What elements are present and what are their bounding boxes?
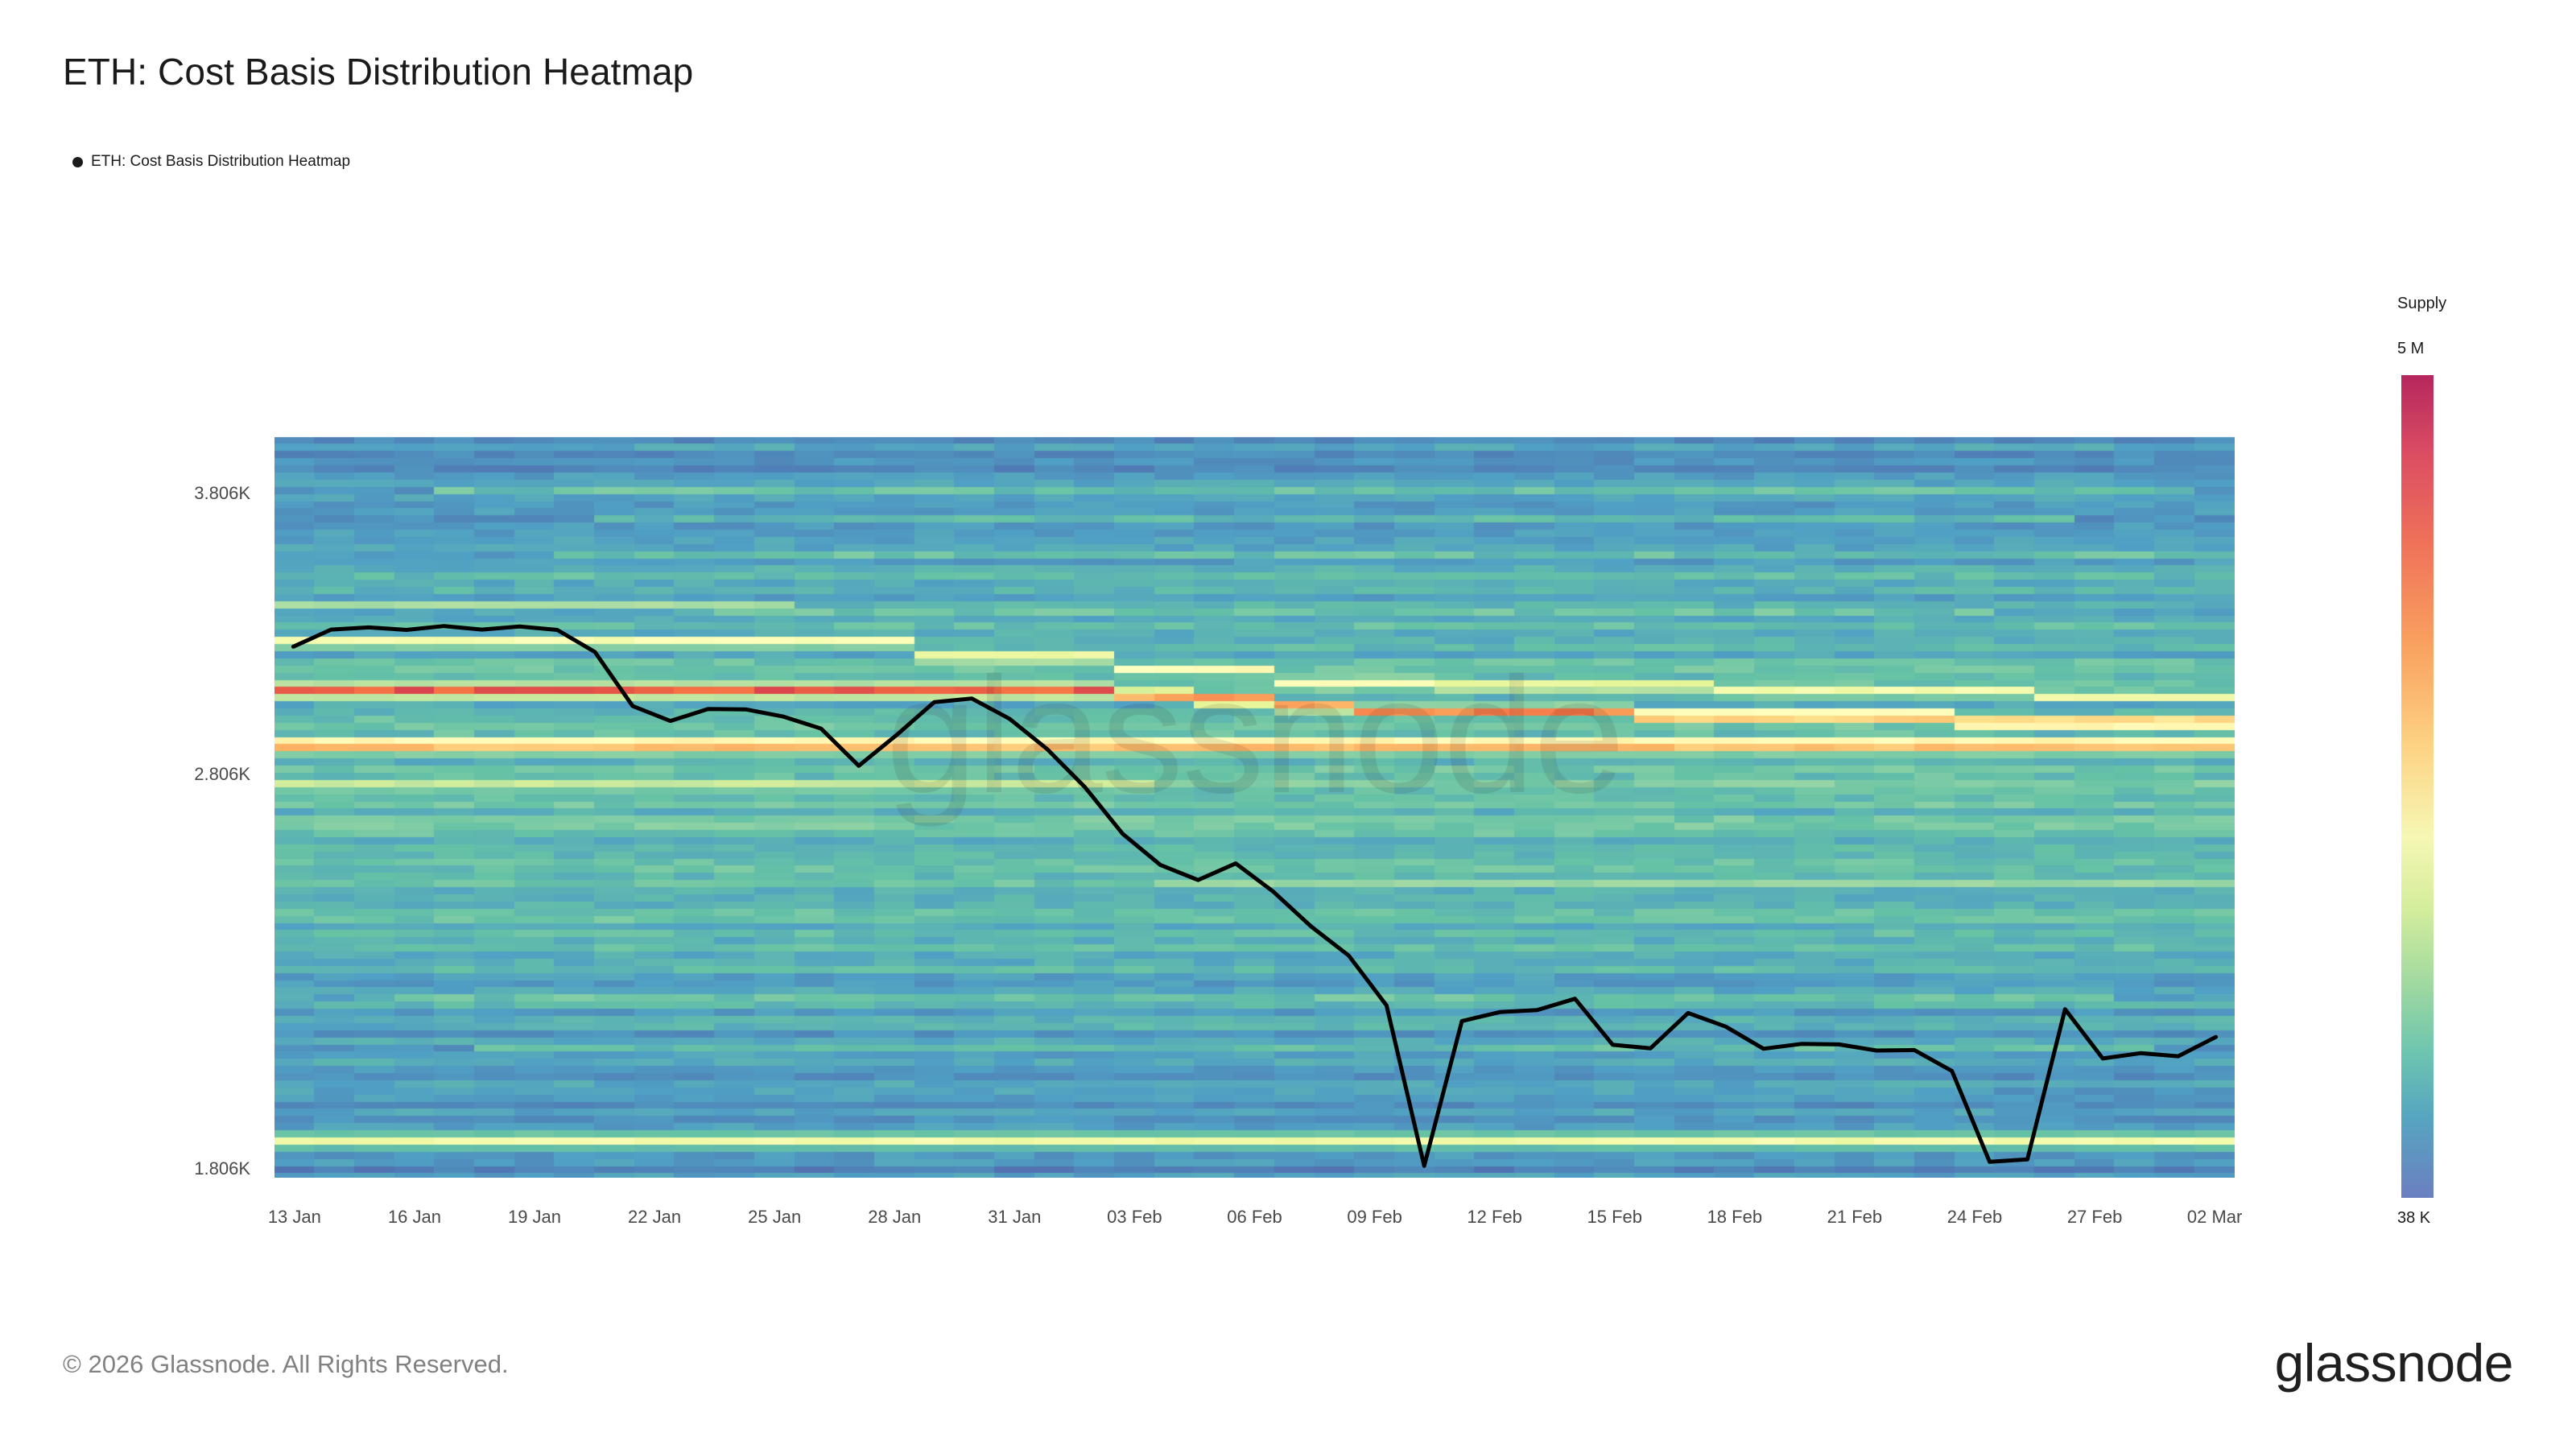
x-tick-label: 09 Feb	[1347, 1207, 1402, 1228]
heatmap-canvas[interactable]	[275, 293, 2235, 1178]
x-axis: 13 Jan16 Jan19 Jan22 Jan25 Jan28 Jan31 J…	[0, 1207, 2576, 1239]
x-tick-label: 28 Jan	[868, 1207, 921, 1228]
x-tick-label: 25 Jan	[748, 1207, 801, 1228]
page-title: ETH: Cost Basis Distribution Heatmap	[63, 50, 693, 93]
y-tick-label: 3.806K	[9, 483, 250, 504]
chart-page: ETH: Cost Basis Distribution Heatmap ETH…	[0, 0, 2576, 1449]
x-tick-label: 12 Feb	[1467, 1207, 1522, 1228]
colorbar[interactable]: Supply 5 M 38 K	[2397, 295, 2574, 1228]
x-tick-label: 03 Feb	[1107, 1207, 1162, 1228]
legend-marker-icon	[72, 157, 83, 167]
colorbar-gradient	[2401, 375, 2434, 1198]
footer-divider	[0, 1298, 2576, 1298]
copyright-text: © 2026 Glassnode. All Rights Reserved.	[63, 1350, 509, 1379]
x-tick-label: 22 Jan	[628, 1207, 681, 1228]
plot-area[interactable]: glassnode	[275, 293, 2235, 1178]
x-tick-label: 13 Jan	[268, 1207, 321, 1228]
legend-series-label: ETH: Cost Basis Distribution Heatmap	[91, 153, 350, 171]
x-tick-label: 27 Feb	[2067, 1207, 2123, 1228]
brand-logo: glassnode	[2275, 1332, 2513, 1393]
x-tick-label: 18 Feb	[1707, 1207, 1763, 1228]
x-tick-label: 02 Mar	[2187, 1207, 2242, 1228]
x-tick-label: 16 Jan	[388, 1207, 441, 1228]
y-tick-label: 2.806K	[9, 764, 250, 785]
x-tick-label: 24 Feb	[1947, 1207, 2003, 1228]
x-tick-label: 31 Jan	[988, 1207, 1041, 1228]
colorbar-max-label: 5 M	[2397, 340, 2424, 358]
colorbar-min-label: 38 K	[2397, 1209, 2430, 1228]
x-tick-label: 06 Feb	[1227, 1207, 1282, 1228]
colorbar-title: Supply	[2397, 295, 2446, 313]
chart-legend[interactable]: ETH: Cost Basis Distribution Heatmap	[72, 153, 350, 171]
x-tick-label: 15 Feb	[1587, 1207, 1642, 1228]
y-tick-label: 1.806K	[9, 1158, 250, 1179]
x-tick-label: 19 Jan	[508, 1207, 561, 1228]
x-tick-label: 21 Feb	[1827, 1207, 1883, 1228]
